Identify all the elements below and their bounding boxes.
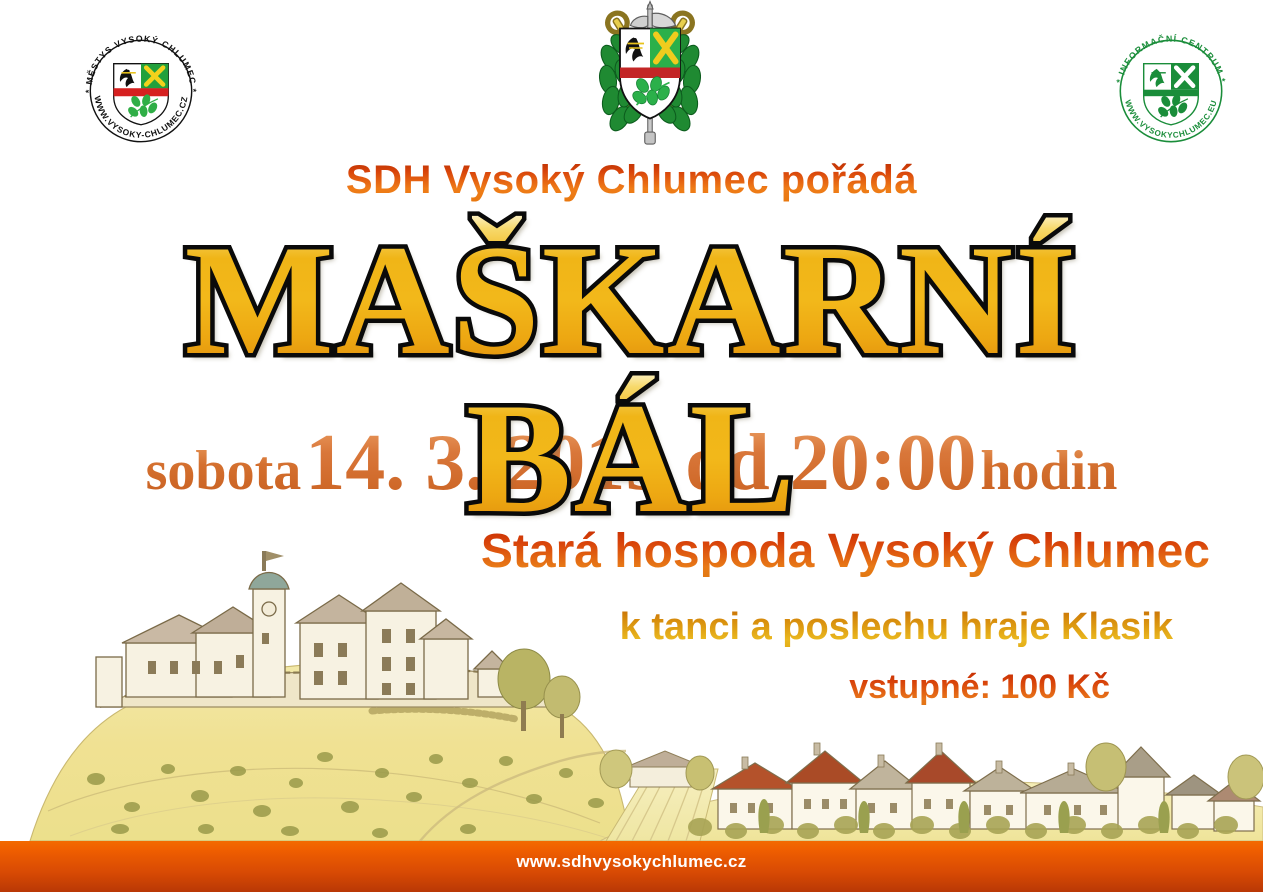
band-info: k tanci a poslechu hraje Klasik	[620, 606, 1173, 649]
organizer-heading: SDH Vysoký Chlumec pořádá	[0, 158, 1263, 203]
footer-website-url[interactable]: www.sdhvysokychlumec.cz	[0, 852, 1263, 872]
footer-bar: www.sdhvysokychlumec.cz	[0, 841, 1263, 892]
seal-shield-icon	[1144, 64, 1199, 125]
coat-of-arms-logo	[565, 0, 735, 150]
seal-shield-icon	[114, 64, 169, 125]
main-title: MAŠKARNÍ BÁL MAŠKARNÍ BÁL	[0, 222, 1263, 392]
ticket-price: vstupné: 100 Kč	[849, 668, 1110, 707]
poster-canvas: * MĚSTYS VYSOKÝ CHLUMEC * WWW.VYSOKY-CHL…	[0, 0, 1263, 892]
informacni-centrum-seal-logo: * INFORMAČNÍ CENTRUM * WWW.VYSOKYCHLUMEC…	[1106, 26, 1236, 156]
mestys-vysoky-chlumec-seal-logo: * MĚSTYS VYSOKÝ CHLUMEC * WWW.VYSOKY-CHL…	[76, 26, 206, 156]
village-group	[600, 743, 1263, 841]
castle-hill-group	[30, 551, 630, 841]
